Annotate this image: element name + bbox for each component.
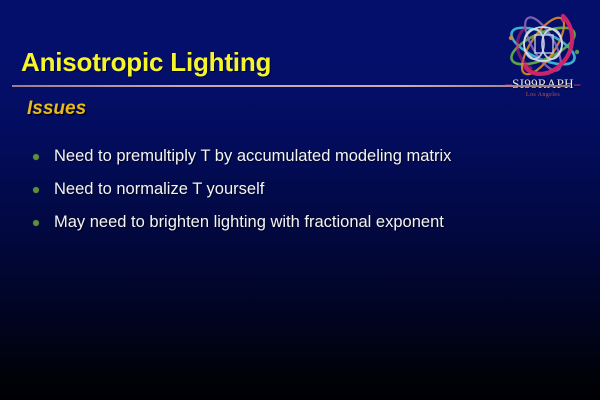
logo-wordmark: –SI99RAPH–: [491, 76, 595, 92]
logo-city-text: Los Angeles: [491, 92, 595, 98]
list-item-label: Need to normalize T yourself: [54, 180, 264, 199]
siggraph-99-logo: –SI99RAPH– Los Angeles: [491, 8, 595, 106]
list-item-label: May need to brighten lighting with fract…: [54, 213, 444, 232]
list-item: Need to normalize T yourself: [28, 173, 573, 206]
section-subheading: Issues: [27, 98, 86, 120]
bullet-dot-icon: [33, 187, 39, 193]
logo-wordmark-text: SI99RAPH: [512, 76, 574, 91]
presentation-slide: –SI99RAPH– Los Angeles Anisotropic Light…: [0, 0, 600, 400]
title-divider: [12, 85, 570, 87]
bullet-dot-icon: [33, 154, 39, 160]
list-item-label: Need to premultiply T by accumulated mod…: [54, 147, 451, 166]
list-item: Need to premultiply T by accumulated mod…: [28, 140, 573, 173]
bullet-list: Need to premultiply T by accumulated mod…: [28, 140, 573, 239]
page-title: Anisotropic Lighting: [21, 47, 271, 78]
logo-dash-right: –: [574, 76, 581, 91]
bullet-dot-icon: [33, 220, 39, 226]
list-item: May need to brighten lighting with fract…: [28, 206, 573, 239]
siggraph-rings-icon: [491, 8, 595, 80]
